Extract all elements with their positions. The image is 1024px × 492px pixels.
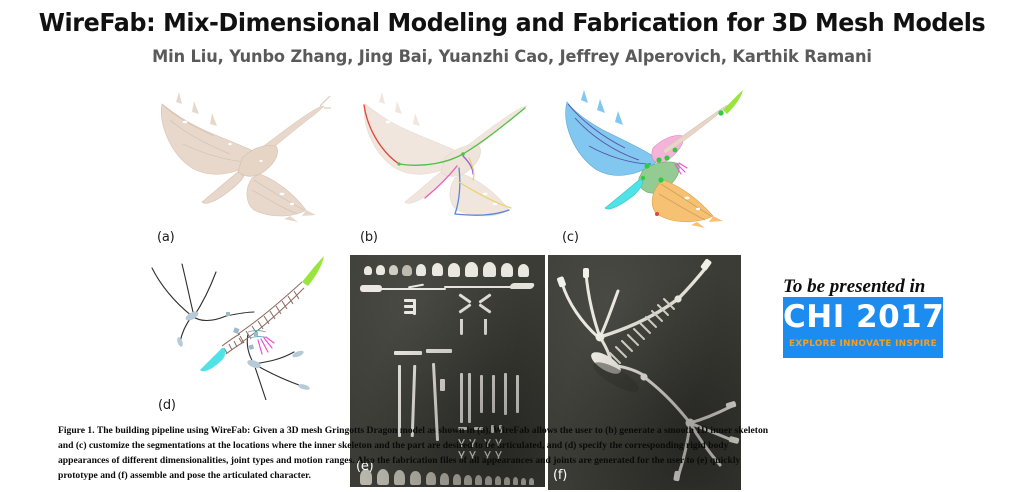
author-list: Min Liu, Yunbo Zhang, Jing Bai, Yuanzhi … (10, 47, 1014, 66)
dragon-segmented-render-c (535, 82, 750, 232)
figure-panel-c: (c) (535, 82, 750, 232)
chi-logo-tagline: EXPLORE INNOVATE INSPIRE (787, 338, 939, 349)
dragon-mesh-render-a (130, 82, 335, 232)
panel-label-c: (c) (562, 230, 579, 245)
chi-logo-title: CHI 2017 (783, 299, 943, 335)
panel-label-a: (a) (157, 230, 175, 245)
chi-2017-logo: CHI 2017 EXPLORE INNOVATE INSPIRE (783, 297, 943, 358)
figure-caption: Figure 1. The building pipeline using Wi… (58, 423, 776, 483)
dragon-skeleton-render-b (333, 82, 538, 232)
page-title: WireFab: Mix-Dimensional Modeling and Fa… (15, 8, 1008, 37)
dragon-rigidbody-render-d (130, 250, 345, 400)
panel-label-b: (b) (360, 230, 378, 245)
presented-at-label: To be presented in (783, 276, 1013, 298)
panel-label-d: (d) (158, 398, 176, 413)
figure-panel-d: (d) (130, 250, 345, 400)
teaser-figure: (a) (0, 82, 1024, 420)
figure-panel-a: (a) (130, 82, 335, 232)
figure-panel-b: (b) (333, 82, 538, 232)
